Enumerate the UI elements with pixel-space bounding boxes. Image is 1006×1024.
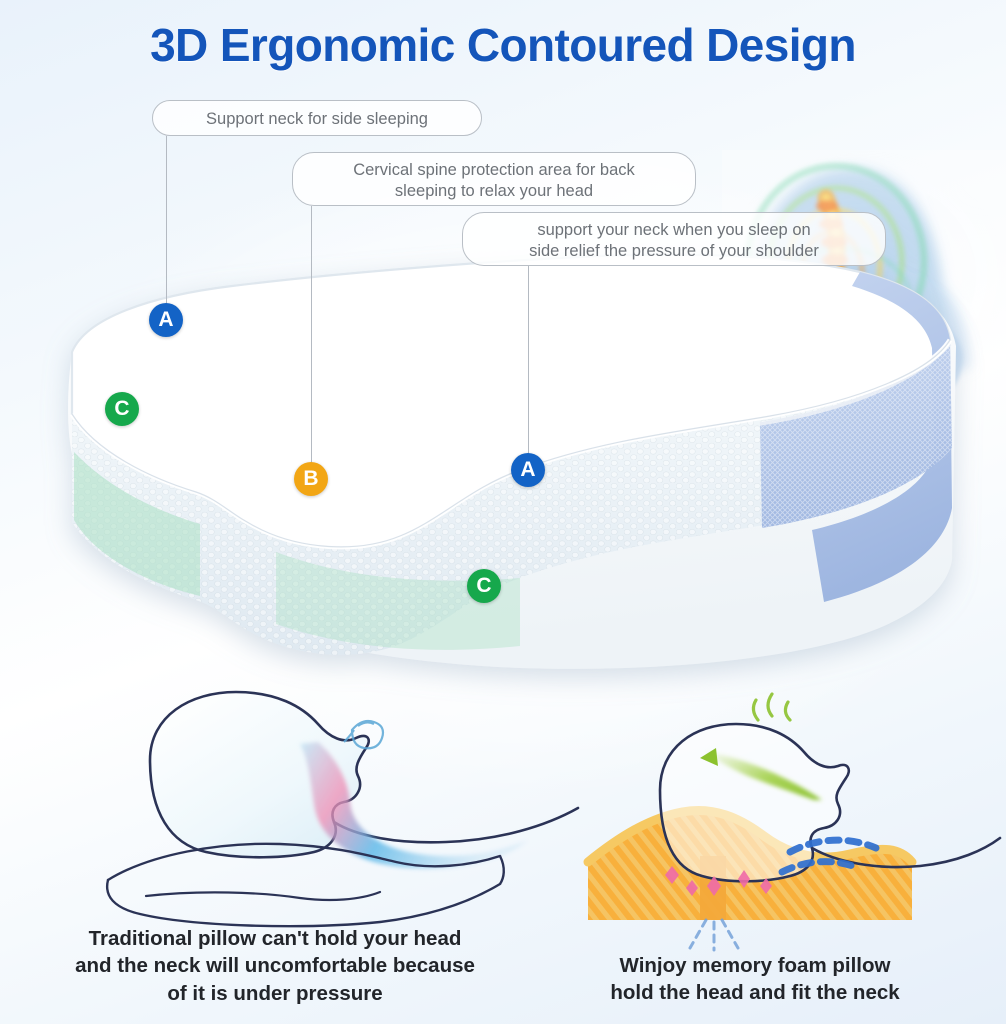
leader-line-callout-1 [166, 136, 167, 308]
infographic-page: 3D Ergonomic Contoured Design Support ne… [0, 0, 1006, 1024]
zone-marker-c-left-edge: C [105, 392, 139, 426]
leader-line-callout-3 [528, 266, 529, 464]
callout-cervical-spine-protection: Cervical spine protection area for back … [292, 152, 696, 206]
winjoy-pillow-illustration [588, 694, 1000, 950]
zone-marker-b-center: B [294, 462, 328, 496]
traditional-pillow-illustration [107, 692, 578, 926]
zone-marker-a-center-right: A [511, 453, 545, 487]
leader-line-callout-2 [311, 206, 312, 474]
callout-shoulder-pressure-relief: support your neck when you sleep on side… [462, 212, 886, 266]
zone-marker-a-upper-left: A [149, 303, 183, 337]
zone-marker-c-lower-center: C [467, 569, 501, 603]
caption-traditional-pillow: Traditional pillow can't hold your head … [40, 925, 510, 1007]
caption-winjoy-pillow: Winjoy memory foam pillow hold the head … [540, 952, 970, 1007]
pillow-graphic [50, 240, 980, 669]
callout-support-neck-side-sleeping: Support neck for side sleeping [152, 100, 482, 136]
page-title: 3D Ergonomic Contoured Design [0, 18, 1006, 72]
